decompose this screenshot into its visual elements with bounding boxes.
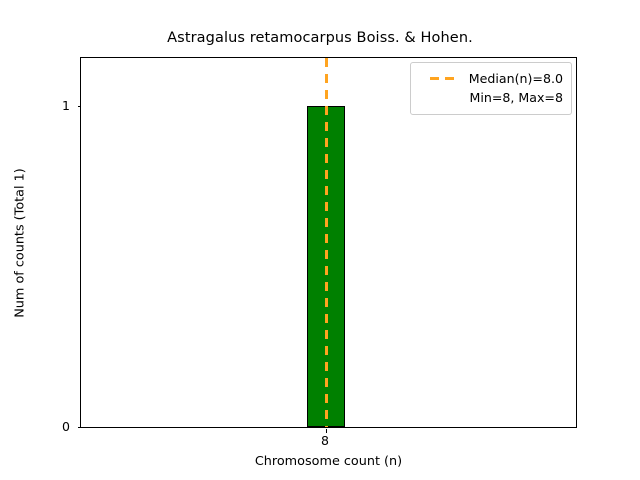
legend-label-minmax: Min=8, Max=8 (469, 90, 563, 105)
x-tick-mark-8 (326, 429, 327, 433)
dashed-line-icon (430, 77, 460, 80)
y-tick-mark-1 (78, 106, 82, 107)
x-axis-label: Chromosome count (n) (80, 454, 577, 469)
y-tick-label-0: 0 (10, 419, 70, 434)
chart-figure: Astragalus retamocarpus Boiss. & Hohen. … (0, 0, 640, 480)
legend-label-median: Median(n)=8.0 (469, 71, 563, 86)
y-axis-label: Num of counts (Total 1) (13, 168, 28, 318)
legend-entry-median: Median(n)=8.0 (419, 69, 563, 88)
legend[interactable]: Median(n)=8.0 Min=8, Max=8 (410, 62, 572, 115)
y-tick-mark-0 (78, 427, 82, 428)
median-line (325, 58, 328, 427)
y-tick-label-1: 1 (10, 98, 70, 113)
legend-entry-minmax: Min=8, Max=8 (419, 88, 563, 107)
chart-title: Astragalus retamocarpus Boiss. & Hohen. (0, 30, 640, 46)
x-tick-label-8: 8 (285, 433, 365, 448)
